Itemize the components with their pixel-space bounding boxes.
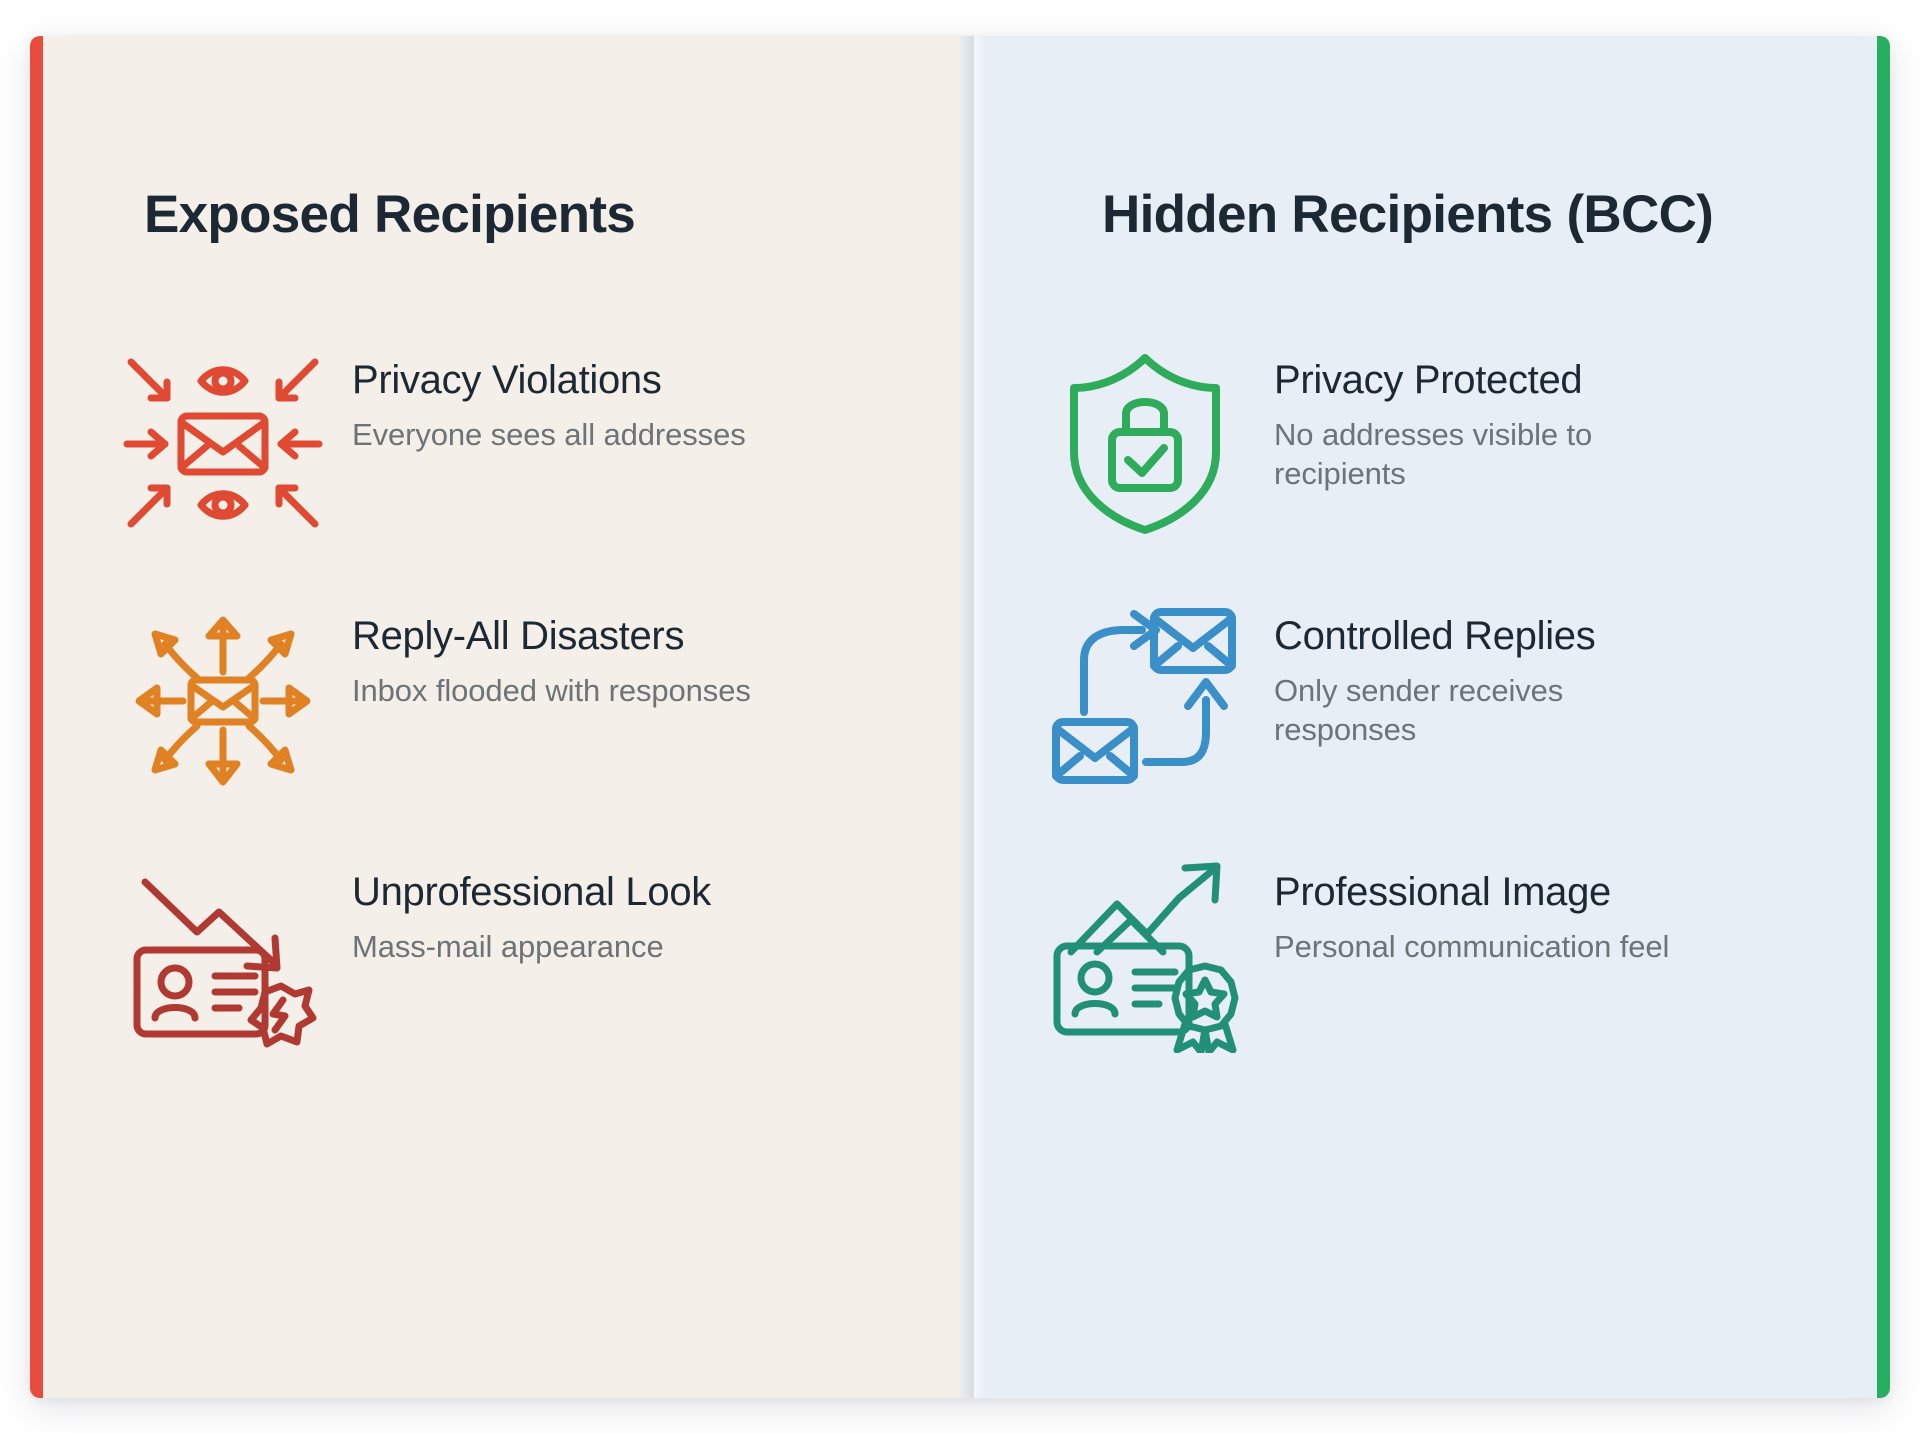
envelope-cycle-arrows-icon bbox=[1030, 592, 1260, 802]
list-item-description: Inbox flooded with responses bbox=[352, 671, 751, 710]
infographic-stage: Exposed Recipients bbox=[0, 0, 1920, 1434]
list-item: Privacy Violations Everyone sees all add… bbox=[108, 336, 900, 592]
award-card-growth-icon bbox=[1030, 848, 1260, 1058]
list-item-text: Controlled Replies Only sender receives … bbox=[1260, 592, 1694, 749]
panel-left-rows: Privacy Violations Everyone sees all add… bbox=[108, 336, 900, 1104]
panel-right-content: Hidden Recipients (BCC) bbox=[960, 36, 1890, 1398]
accent-bar-left bbox=[30, 36, 43, 1398]
list-item-text: Reply-All Disasters Inbox flooded with r… bbox=[338, 592, 751, 710]
panel-right-title: Hidden Recipients (BCC) bbox=[1102, 186, 1830, 244]
list-item: Privacy Protected No addresses visible t… bbox=[1030, 336, 1830, 592]
panel-hidden-recipients: Hidden Recipients (BCC) bbox=[960, 36, 1890, 1398]
list-item-description: No addresses visible to recipients bbox=[1274, 415, 1694, 493]
list-item-heading: Privacy Violations bbox=[352, 358, 746, 403]
list-item-heading: Professional Image bbox=[1274, 870, 1669, 915]
panel-right-rows: Privacy Protected No addresses visible t… bbox=[1030, 336, 1830, 1104]
list-item-text: Privacy Protected No addresses visible t… bbox=[1260, 336, 1694, 493]
list-item-description: Only sender receives responses bbox=[1274, 671, 1694, 749]
list-item-description: Personal communication feel bbox=[1274, 927, 1669, 966]
panel-left-title: Exposed Recipients bbox=[144, 186, 900, 244]
comparison-card: Exposed Recipients bbox=[30, 36, 1890, 1398]
accent-bar-right bbox=[1877, 36, 1890, 1398]
list-item-description: Everyone sees all addresses bbox=[352, 415, 746, 454]
list-item: Controlled Replies Only sender receives … bbox=[1030, 592, 1830, 848]
list-item: Unprofessional Look Mass-mail appearance bbox=[108, 848, 900, 1104]
shield-lock-check-icon bbox=[1030, 336, 1260, 546]
list-item: Reply-All Disasters Inbox flooded with r… bbox=[108, 592, 900, 848]
exposed-envelope-eyes-icon bbox=[108, 336, 338, 546]
panel-left-content: Exposed Recipients bbox=[30, 36, 960, 1398]
list-item-text: Privacy Violations Everyone sees all add… bbox=[338, 336, 746, 454]
list-item-heading: Unprofessional Look bbox=[352, 870, 711, 915]
broken-badge-card-icon bbox=[108, 848, 338, 1058]
list-item-description: Mass-mail appearance bbox=[352, 927, 711, 966]
list-item-heading: Reply-All Disasters bbox=[352, 614, 751, 659]
reply-all-burst-icon bbox=[108, 592, 338, 802]
list-item: Professional Image Personal communicatio… bbox=[1030, 848, 1830, 1104]
list-item-heading: Controlled Replies bbox=[1274, 614, 1694, 659]
list-item-text: Unprofessional Look Mass-mail appearance bbox=[338, 848, 711, 966]
panel-exposed-recipients: Exposed Recipients bbox=[30, 36, 960, 1398]
list-item-text: Professional Image Personal communicatio… bbox=[1260, 848, 1669, 966]
list-item-heading: Privacy Protected bbox=[1274, 358, 1694, 403]
